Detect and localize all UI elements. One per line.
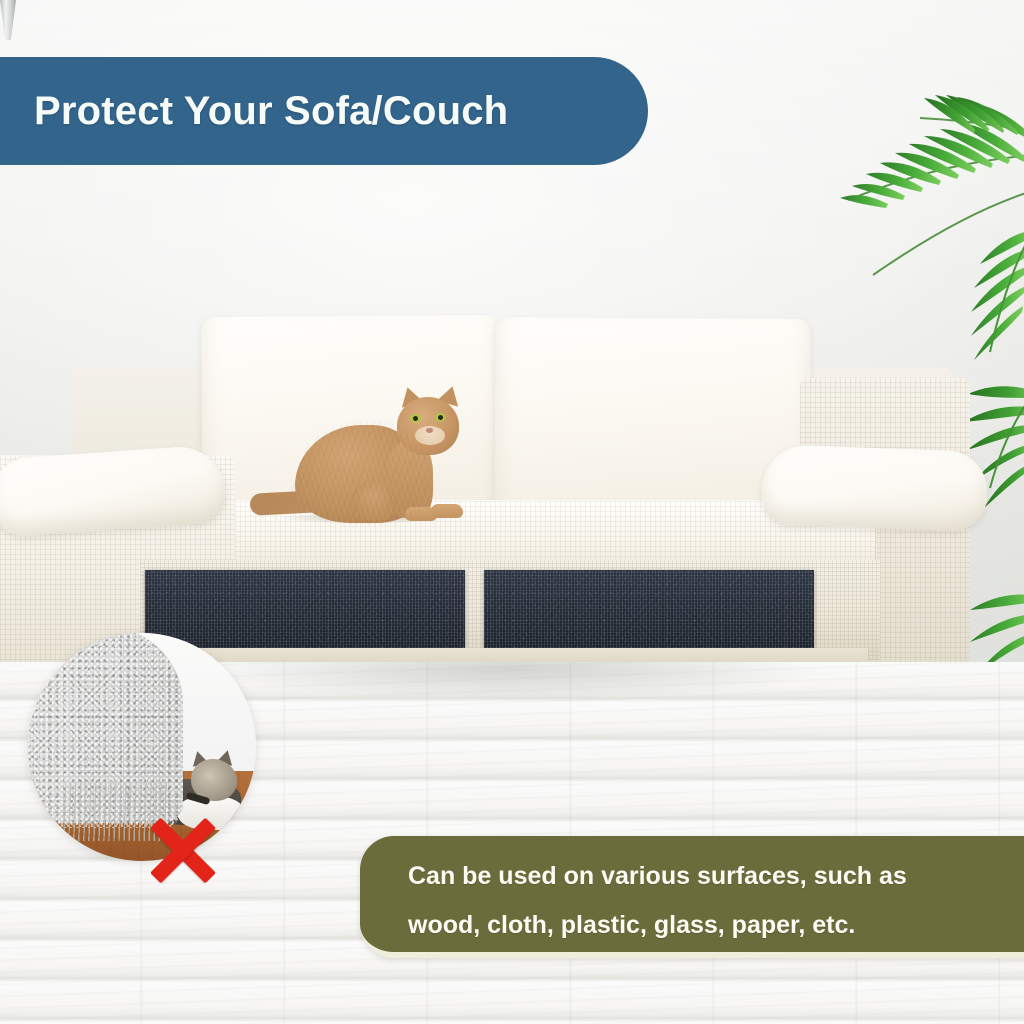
banner-title: Protect Your Sofa/Couch xyxy=(34,89,508,134)
header-banner: Protect Your Sofa/Couch xyxy=(0,57,648,165)
cat-fur-texture xyxy=(291,421,431,526)
cat-front-paw-right xyxy=(431,504,463,518)
callout-line-1: Can be used on various surfaces, such as xyxy=(408,852,1024,901)
product-image: Protect Your Sofa/Couch Can be used on v… xyxy=(0,0,1024,1024)
red-x-icon xyxy=(148,816,218,884)
scratcher-mat-right[interactable] xyxy=(484,570,814,648)
sofa-arm-pillow-left xyxy=(0,444,227,538)
cat-eye-left xyxy=(410,414,421,423)
surfaces-callout: Can be used on various surfaces, such as… xyxy=(360,836,1024,958)
callout-line-2: wood, cloth, plastic, glass, paper, etc. xyxy=(408,901,1024,950)
cat-eye-right xyxy=(435,413,446,422)
damaged-sofa-inset xyxy=(28,633,256,861)
cat-on-sofa xyxy=(255,385,485,530)
scratcher-mat-right-texture xyxy=(484,570,814,648)
sofa-arm-pillow-right xyxy=(761,444,989,532)
cat-nose xyxy=(426,428,433,433)
